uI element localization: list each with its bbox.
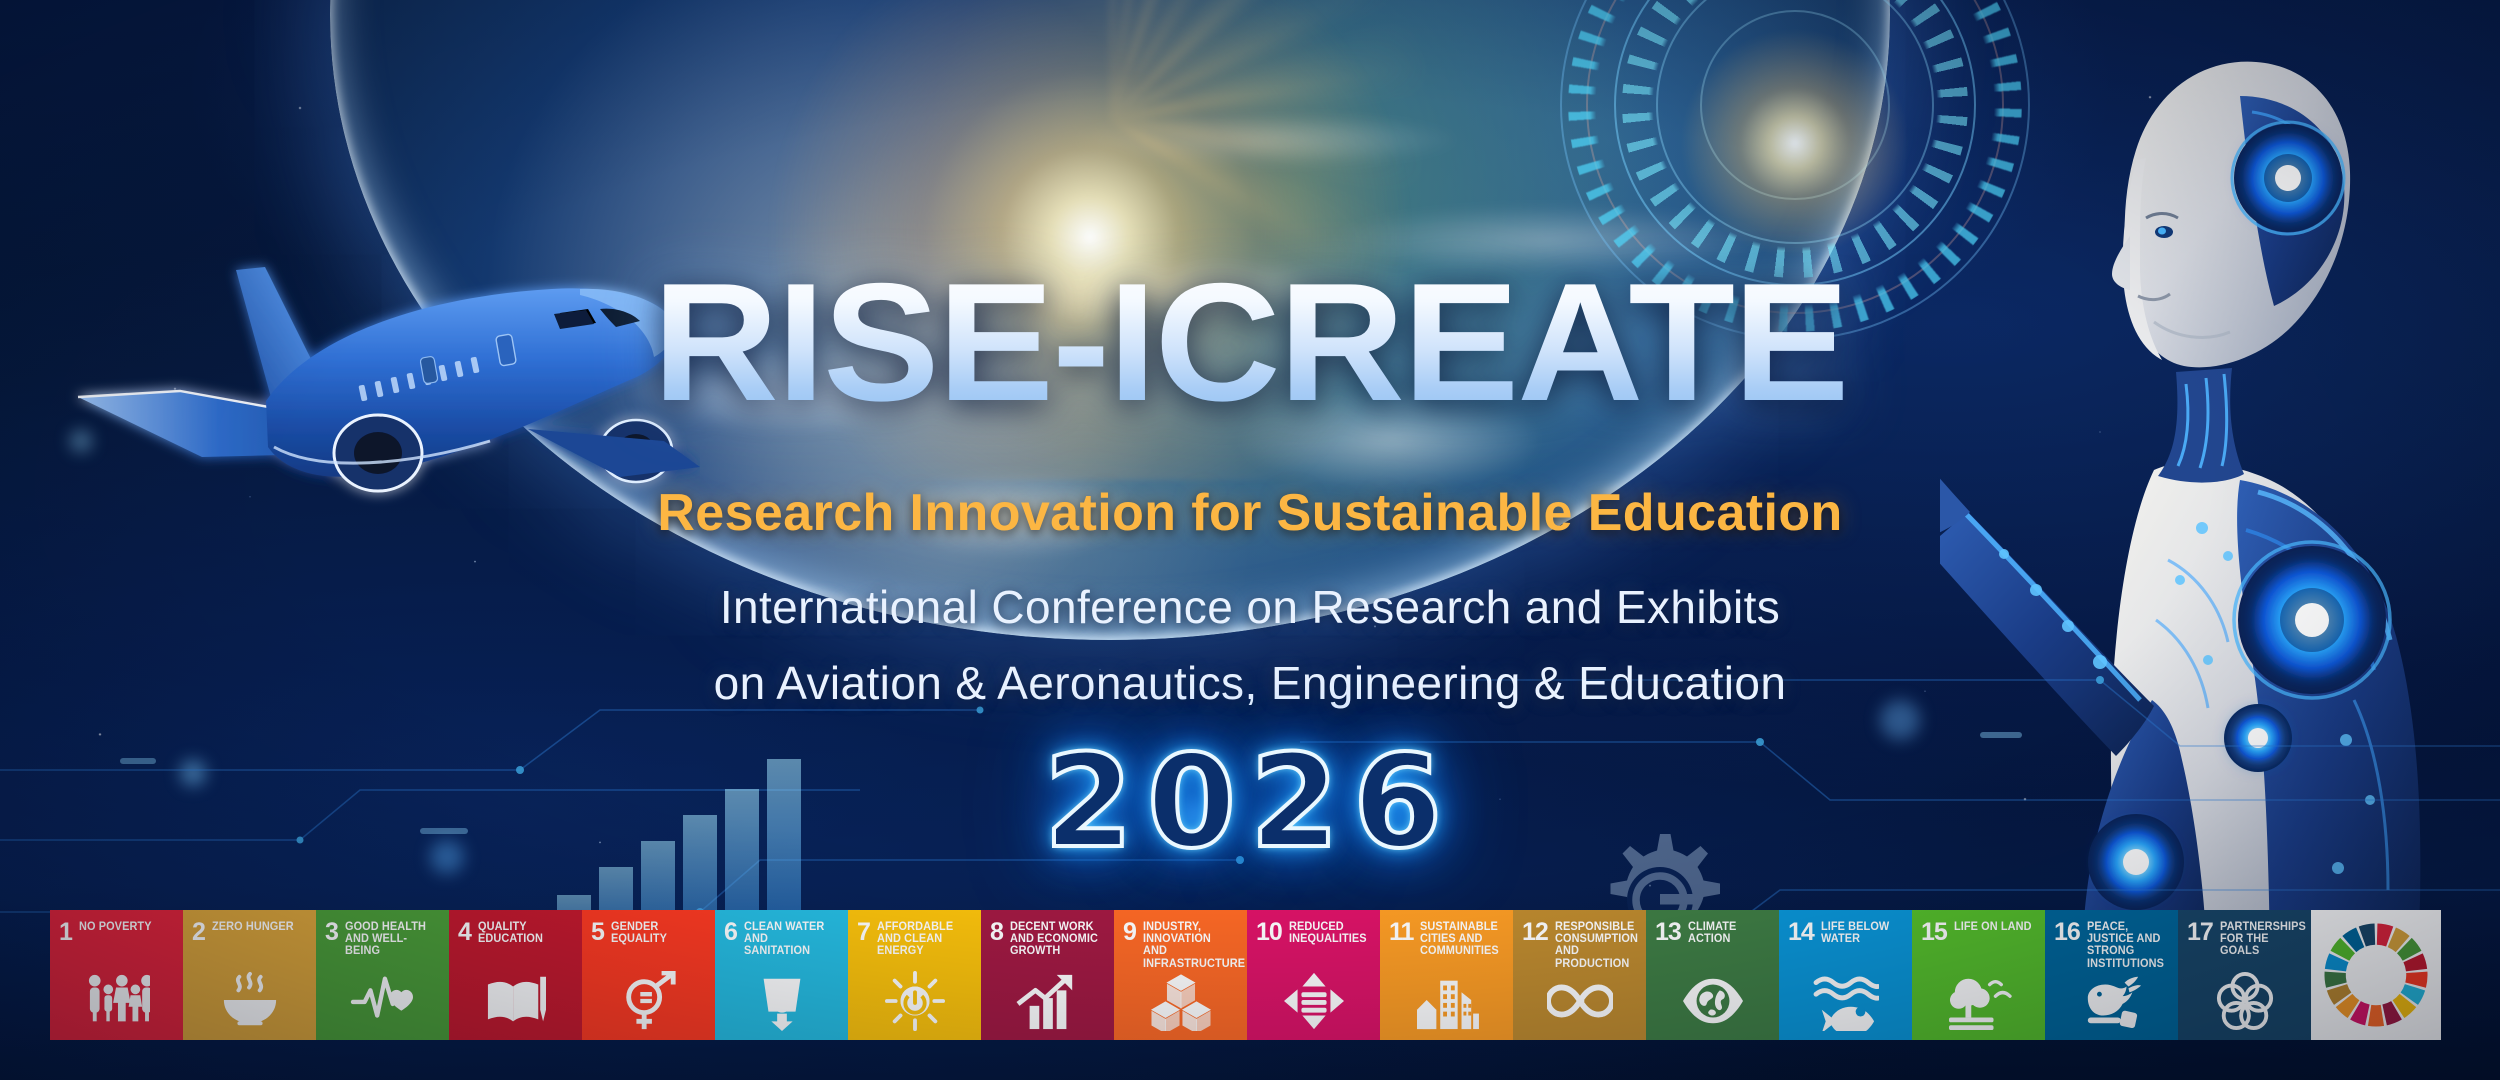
conference-banner: RISE-ICREATE Research Innovation for Sus… — [0, 0, 2500, 1080]
book-pencil-icon — [483, 971, 549, 1031]
sdg-tile-header: 6CLEAN WATER AND SANITATION — [724, 921, 848, 958]
subtitle-line-1: International Conference on Research and… — [0, 580, 2500, 634]
sdg-tile-header: 4QUALITY EDUCATION — [458, 921, 582, 945]
sdg-number: 16 — [2054, 921, 2080, 944]
sdg-label: ZERO HUNGER — [212, 921, 294, 933]
water-glass-icon — [749, 971, 815, 1031]
sdg-number: 17 — [2187, 921, 2213, 944]
sdg-tile-header: 5GENDER EQUALITY — [591, 921, 715, 945]
sun-power-icon — [882, 971, 948, 1031]
sdg-wheel-tile[interactable] — [2311, 910, 2441, 1040]
sdg-label: QUALITY EDUCATION — [478, 921, 569, 945]
sdg-label: REDUCED INEQUALITIES — [1289, 921, 1376, 945]
fish-waves-icon — [1813, 971, 1879, 1031]
tagline: Research Innovation for Sustainable Educ… — [0, 483, 2500, 543]
cubes-icon — [1148, 971, 1214, 1031]
sdg-label: INDUSTRY, INNOVATION AND INFRASTRUCTURE — [1143, 921, 1234, 970]
sdg-label: NO POVERTY — [79, 921, 152, 933]
sdg-number: 3 — [325, 921, 338, 944]
sdg-tile-header: 11SUSTAINABLE CITIES AND COMMUNITIES — [1389, 921, 1513, 958]
sdg-label: LIFE ON LAND — [1954, 921, 2032, 933]
sdg-number: 13 — [1655, 921, 1681, 944]
sdg-number: 1 — [59, 921, 72, 944]
heartbeat-icon — [350, 971, 416, 1031]
sdg-tile-7[interactable]: 7AFFORDABLE AND CLEAN ENERGY — [848, 910, 981, 1040]
sdg-tile-header: 12RESPONSIBLE CONSUMPTION AND PRODUCTION — [1522, 921, 1646, 970]
equal-arrows-icon — [1281, 971, 1347, 1031]
sdg-number: 10 — [1256, 921, 1282, 944]
sdg-tile-header: 2ZERO HUNGER — [192, 921, 316, 944]
eye-earth-icon — [1680, 971, 1746, 1031]
sdg-tile-3[interactable]: 3GOOD HEALTH AND WELL-BEING — [316, 910, 449, 1040]
sdg-color-wheel-icon — [2320, 919, 2432, 1031]
sdg-label: RESPONSIBLE CONSUMPTION AND PRODUCTION — [1555, 921, 1642, 970]
sdg-tile-10[interactable]: 10REDUCED INEQUALITIES — [1247, 910, 1380, 1040]
sdg-tile-9[interactable]: 9INDUSTRY, INNOVATION AND INFRASTRUCTURE — [1114, 910, 1247, 1040]
sdg-number: 6 — [724, 921, 737, 944]
sdg-tile-header: 8DECENT WORK AND ECONOMIC GROWTH — [990, 921, 1114, 958]
sdg-tile-2[interactable]: 2ZERO HUNGER — [183, 910, 316, 1040]
growth-chart-icon — [1015, 971, 1081, 1031]
sdg-goals-strip: 1NO POVERTY 2ZERO HUNGER 3GOOD HEALTH AN… — [50, 910, 2438, 1040]
sdg-label: LIFE BELOW WATER — [1821, 921, 1908, 945]
sdg-tile-header: 10REDUCED INEQUALITIES — [1256, 921, 1380, 945]
sdg-tile-14[interactable]: 14LIFE BELOW WATER — [1779, 910, 1912, 1040]
sdg-number: 9 — [1123, 921, 1136, 944]
sdg-label: PEACE, JUSTICE AND STRONG INSTITUTIONS — [2087, 921, 2174, 970]
sdg-number: 14 — [1788, 921, 1814, 944]
sdg-tile-12[interactable]: 12RESPONSIBLE CONSUMPTION AND PRODUCTION — [1513, 910, 1646, 1040]
sdg-number: 5 — [591, 921, 604, 944]
sdg-number: 2 — [192, 921, 205, 944]
sdg-label: CLEAN WATER AND SANITATION — [744, 921, 835, 958]
sdg-label: AFFORDABLE AND CLEAN ENERGY — [877, 921, 968, 958]
sdg-tile-6[interactable]: 6CLEAN WATER AND SANITATION — [715, 910, 848, 1040]
sdg-tile-header: 3GOOD HEALTH AND WELL-BEING — [325, 921, 449, 958]
sdg-tile-header: 16PEACE, JUSTICE AND STRONG INSTITUTIONS — [2054, 921, 2178, 970]
sdg-tile-header: 14LIFE BELOW WATER — [1788, 921, 1912, 945]
sdg-tile-header: 1NO POVERTY — [59, 921, 183, 944]
sdg-tile-header: 15LIFE ON LAND — [1921, 921, 2045, 944]
sdg-label: PARTNERSHIPS FOR THE GOALS — [2220, 921, 2307, 958]
sdg-tile-5[interactable]: 5GENDER EQUALITY — [582, 910, 715, 1040]
page-title: RISE-ICREATE — [0, 258, 2500, 426]
infinity-icon — [1547, 971, 1613, 1031]
sdg-tile-header: 9INDUSTRY, INNOVATION AND INFRASTRUCTURE — [1123, 921, 1247, 970]
subtitle-line-2: on Aviation & Aeronautics, Engineering &… — [0, 656, 2500, 710]
sdg-label: GENDER EQUALITY — [611, 921, 702, 945]
sdg-label: CLIMATE ACTION — [1688, 921, 1775, 945]
sdg-number: 7 — [857, 921, 870, 944]
sdg-tile-13[interactable]: 13CLIMATE ACTION — [1646, 910, 1779, 1040]
sdg-tile-4[interactable]: 4QUALITY EDUCATION — [449, 910, 582, 1040]
sdg-number: 11 — [1389, 921, 1413, 944]
tree-birds-icon — [1946, 971, 2012, 1031]
sdg-tile-1[interactable]: 1NO POVERTY — [50, 910, 183, 1040]
sdg-number: 15 — [1921, 921, 1947, 944]
sdg-tile-15[interactable]: 15LIFE ON LAND — [1912, 910, 2045, 1040]
sdg-number: 12 — [1522, 921, 1548, 944]
gender-equality-icon — [616, 971, 682, 1031]
sdg-tile-header: 13CLIMATE ACTION — [1655, 921, 1779, 945]
year-badge: 2026 — [0, 728, 2500, 877]
sdg-number: 4 — [458, 921, 471, 944]
sdg-tile-8[interactable]: 8DECENT WORK AND ECONOMIC GROWTH — [981, 910, 1114, 1040]
dove-gavel-icon — [2079, 971, 2145, 1031]
steaming-bowl-icon — [217, 971, 283, 1031]
sdg-tile-11[interactable]: 11SUSTAINABLE CITIES AND COMMUNITIES — [1380, 910, 1513, 1040]
sdg-label: SUSTAINABLE CITIES AND COMMUNITIES — [1420, 921, 1508, 958]
sdg-tile-header: 17PARTNERSHIPS FOR THE GOALS — [2187, 921, 2311, 958]
family-icon — [84, 971, 150, 1031]
sdg-number: 8 — [990, 921, 1003, 944]
sdg-tile-17[interactable]: 17PARTNERSHIPS FOR THE GOALS — [2178, 910, 2311, 1040]
sdg-tile-header: 7AFFORDABLE AND CLEAN ENERGY — [857, 921, 981, 958]
sdg-wheel-segment — [2368, 1005, 2384, 1027]
interlocking-circles-icon — [2212, 971, 2278, 1031]
sdg-label: GOOD HEALTH AND WELL-BEING — [345, 921, 436, 958]
buildings-icon — [1414, 971, 1480, 1031]
sdg-tile-16[interactable]: 16PEACE, JUSTICE AND STRONG INSTITUTIONS — [2045, 910, 2178, 1040]
sdg-label: DECENT WORK AND ECONOMIC GROWTH — [1010, 921, 1101, 958]
